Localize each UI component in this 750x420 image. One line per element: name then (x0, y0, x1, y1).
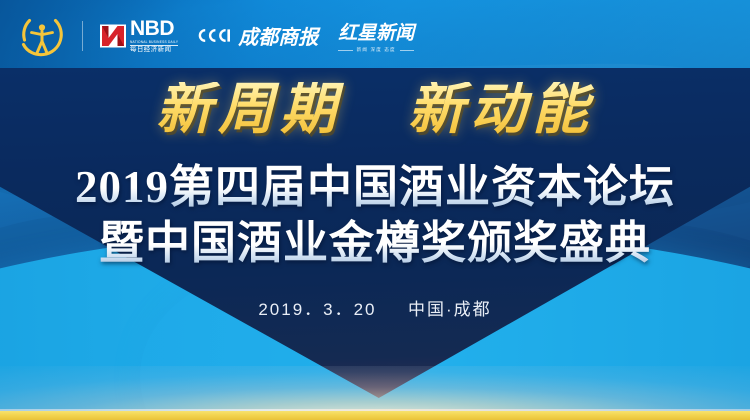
event-date: 2019．3．20 (258, 300, 376, 319)
redstar-name-cn: 红星新闻 (338, 18, 414, 45)
partner-logos: NBD NATIONAL BUSINESS DAILY 每日经济新闻 成都商报 (100, 18, 414, 54)
slogan-part-right: 新动能 (408, 79, 594, 141)
event-banner: NBD NATIONAL BUSINESS DAILY 每日经济新闻 成都商报 (0, 0, 750, 420)
slogan-part-left: 新周期 (156, 79, 342, 141)
cdd-mark-icon (198, 28, 232, 43)
cdbao-name-cn: 成都商报 (238, 21, 318, 50)
partner-logo-nbd: NBD NATIONAL BUSINESS DAILY 每日经济新闻 (100, 18, 178, 54)
redstar-tagline: 新闻 深度 态度 (338, 47, 414, 53)
partner-logo-cdbao: 成都商报 (198, 21, 318, 50)
event-title-line-2: 暨中国酒业金樽奖颁奖盛典 (0, 218, 750, 268)
event-meta: 2019．3．20 中国·成都 (0, 295, 750, 320)
redstar-tags-cn: 新闻 深度 态度 (357, 47, 396, 53)
event-title-line-1: 2019第四届中国酒业资本论坛 (0, 162, 750, 212)
redstar-rule-left (338, 50, 352, 51)
event-slogan: 新周期 新动能 (0, 82, 750, 138)
logo-divider (82, 21, 83, 51)
redstar-rule-right (400, 50, 414, 51)
nbd-tagline-en: NATIONAL BUSINESS DAILY (130, 41, 178, 44)
nbd-name-cn: 每日经济新闻 (130, 45, 178, 54)
event-location: 中国·成都 (408, 300, 492, 319)
bottom-gold-band (0, 411, 750, 420)
nbd-n-mark-icon (100, 23, 126, 49)
partner-logo-redstar: 红星新闻 新闻 深度 态度 (338, 18, 414, 53)
nbd-name-en: NBD (130, 18, 178, 39)
nbd-wordmark: NBD NATIONAL BUSINESS DAILY 每日经济新闻 (130, 18, 178, 54)
golden-figure-logo-icon (18, 12, 66, 60)
logo-bar: NBD NATIONAL BUSINESS DAILY 每日经济新闻 成都商报 (0, 0, 414, 72)
